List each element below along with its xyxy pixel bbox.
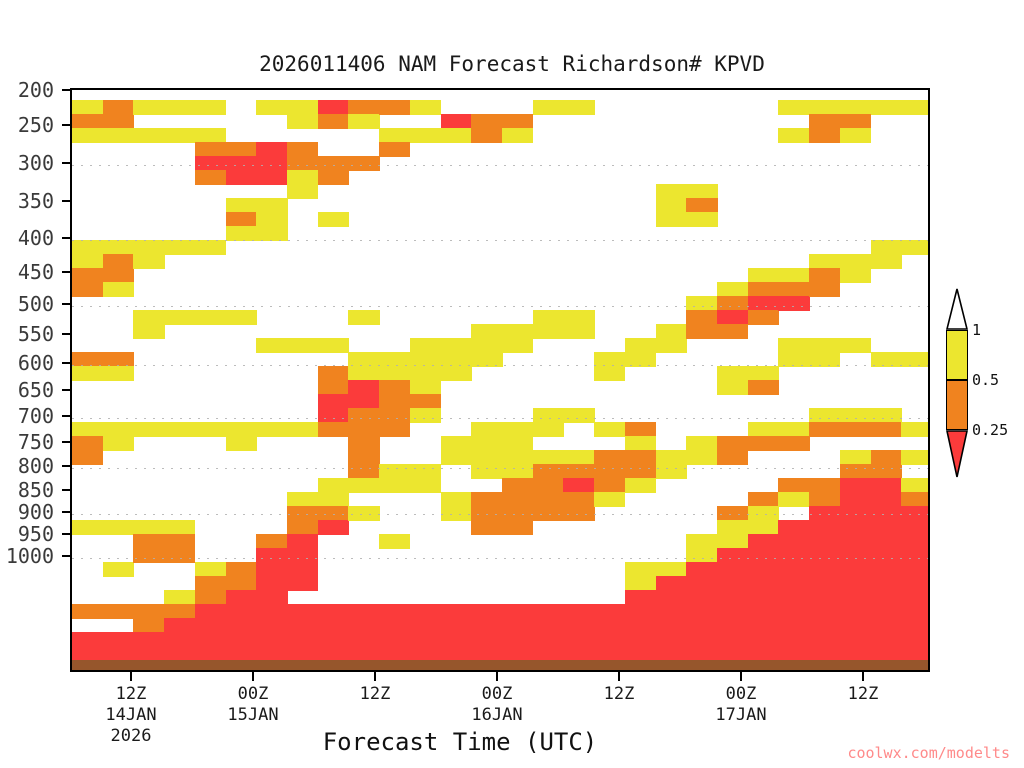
chart-canvas: 2026011406 NAM Forecast Richardson# KPVD… — [0, 0, 1024, 768]
colorbar-top-cap-icon — [946, 288, 968, 330]
x-tick-label: 00Z17JAN — [715, 684, 766, 726]
colorbar-segment-yellow[interactable] — [946, 330, 968, 380]
x-tick-label: 00Z15JAN — [227, 684, 278, 726]
x-tick-label: 12Z — [604, 684, 635, 705]
credit-watermark: coolwx.com/modelts — [847, 744, 1010, 762]
x-tick-mark — [496, 672, 498, 681]
x-tick-label: 00Z16JAN — [471, 684, 522, 726]
colorbar-label-1: 1 — [972, 321, 981, 339]
colorbar-label-0.5: 0.5 — [972, 371, 999, 389]
x-tick-mark — [252, 672, 254, 681]
x-axis: 12Z14JAN202600Z15JAN12Z00Z16JAN12Z00Z17J… — [0, 0, 1024, 768]
x-tick-mark — [374, 672, 376, 681]
x-tick-mark — [618, 672, 620, 681]
colorbar-bottom-cap-icon — [946, 430, 968, 478]
colorbar-segment-orange[interactable] — [946, 380, 968, 430]
x-tick-mark — [740, 672, 742, 681]
x-tick-label: 12Z — [848, 684, 879, 705]
x-axis-title: Forecast Time (UTC) — [0, 728, 920, 756]
x-tick-mark — [862, 672, 864, 681]
colorbar-label-0.25: 0.25 — [972, 421, 1008, 439]
x-tick-label: 12Z — [360, 684, 391, 705]
x-tick-mark — [130, 672, 132, 681]
colorbar-legend[interactable]: 10.50.25 — [938, 288, 1024, 488]
